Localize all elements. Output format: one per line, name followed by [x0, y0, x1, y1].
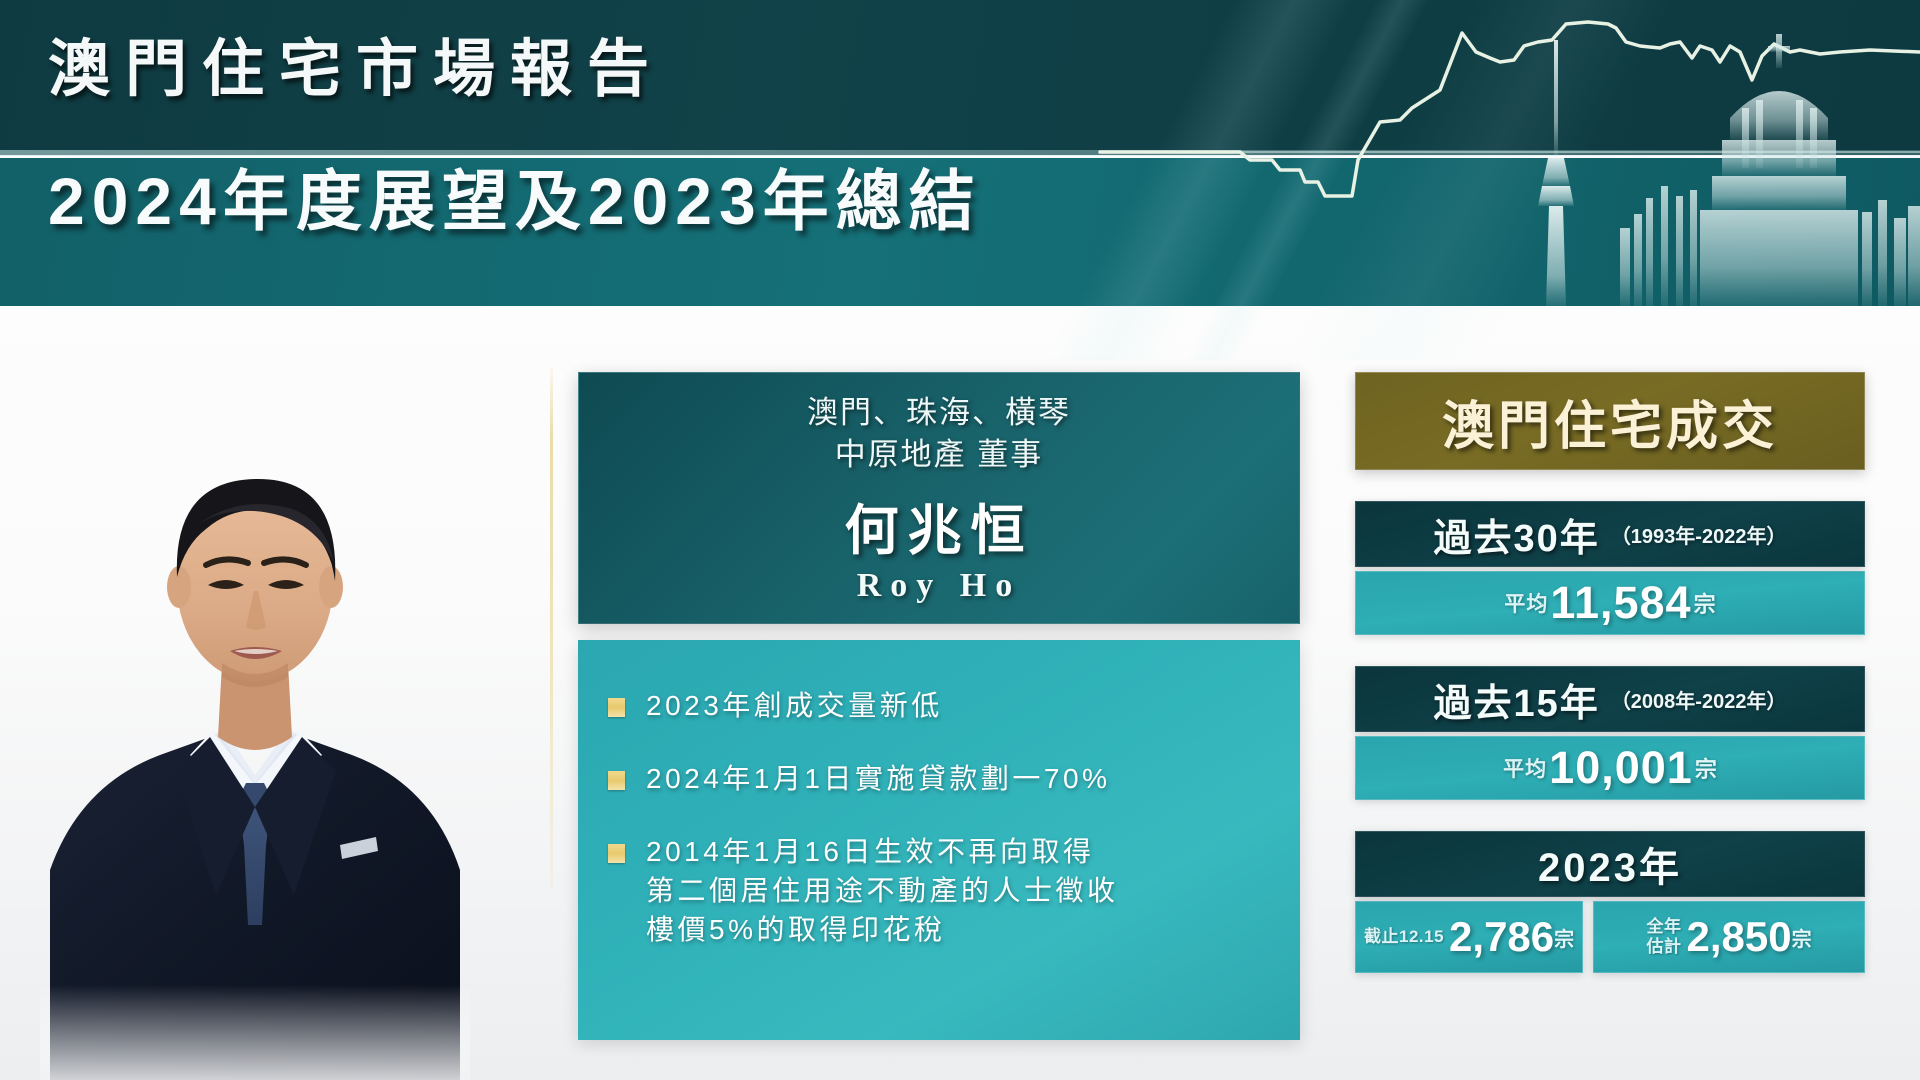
stat-header-range: （2008年-2022年） [1611, 685, 1787, 714]
slide-root: 澳門住宅市場報告 2024年度展望及2023年總結 [0, 0, 1920, 1080]
speaker-name-zh: 何兆恒 [845, 486, 1034, 565]
stat-box-label-line2: 估計 [1647, 937, 1682, 957]
list-item: 2023年創成交量新低 [608, 686, 1270, 725]
stat-header-label: 2023年 [1538, 835, 1682, 893]
stat-header-label: 過去15年 [1434, 672, 1600, 727]
stat-header: 過去30年 （1993年-2022年） [1355, 501, 1865, 567]
stats-panel-title-text: 澳門住宅成交 [1442, 384, 1778, 459]
stat-box-number: 2,786 [1449, 913, 1554, 961]
stat-value-number: 10,001 [1549, 742, 1693, 794]
stat-header: 2023年 [1355, 831, 1865, 897]
page-subtitle: 2024年度展望及2023年總結 [48, 148, 982, 244]
transactions-stats-panel: 澳門住宅成交 過去30年 （1993年-2022年） 平均 11,584 宗 過… [1355, 372, 1865, 1042]
speaker-org: 澳門、珠海、橫琴 中原地產 董事 [807, 392, 1071, 476]
stat-value-unit: 宗 [1695, 752, 1717, 784]
stat-header: 過去15年 （2008年-2022年） [1355, 666, 1865, 732]
stat-value-prefix: 平均 [1504, 588, 1548, 618]
stats-panel-title: 澳門住宅成交 [1355, 372, 1865, 470]
stat-value-number: 11,584 [1550, 577, 1691, 629]
stat-value-prefix: 平均 [1503, 753, 1547, 783]
stat-box-label-line1: 全年 [1647, 917, 1682, 937]
stat-header-label: 過去30年 [1434, 507, 1600, 562]
list-item-text: 2014年1月16日生效不再向取得 第二個居住用途不動產的人士徵收 樓價5%的取… [646, 832, 1119, 949]
list-item-line: 樓價5%的取得印花稅 [646, 910, 1119, 949]
list-item-line: 2014年1月16日生效不再向取得 [646, 832, 1119, 871]
stat-group-2023: 2023年 截止12.15 2,786 宗 全年 估計 2,850 宗 [1355, 831, 1865, 973]
speaker-org-line1: 澳門、珠海、橫琴 [807, 392, 1071, 434]
key-points-card: 2023年創成交量新低 2024年1月1日實施貸款劃一70% 2014年1月16… [578, 640, 1300, 1040]
list-item-line: 第二個居住用途不動產的人士徵收 [646, 871, 1119, 910]
stat-group-30y: 過去30年 （1993年-2022年） 平均 11,584 宗 [1355, 501, 1865, 635]
stat-box-unit: 宗 [1554, 923, 1574, 952]
stat-box-unit: 宗 [1792, 923, 1812, 952]
stat-box-label-line1: 截止12.15 [1364, 927, 1444, 947]
list-item: 2014年1月16日生效不再向取得 第二個居住用途不動產的人士徵收 樓價5%的取… [608, 832, 1270, 949]
list-item-line: 2023年創成交量新低 [646, 686, 943, 725]
stat-box-label: 全年 估計 [1647, 917, 1682, 957]
stat-value-unit: 宗 [1694, 587, 1716, 619]
speaker-name-card: 澳門、珠海、橫琴 中原地產 董事 何兆恒 Roy Ho [578, 372, 1300, 624]
stat-value-row: 平均 10,001 宗 [1355, 736, 1865, 800]
speaker-portrait [40, 285, 470, 1080]
stat-box-number: 2,850 [1687, 913, 1792, 961]
stat-group-15y: 過去15年 （2008年-2022年） 平均 10,001 宗 [1355, 666, 1865, 800]
list-item-text: 2024年1月1日實施貸款劃一70% [646, 759, 1110, 798]
stat-header-range: （1993年-2022年） [1611, 520, 1787, 549]
stat-value-row: 平均 11,584 宗 [1355, 571, 1865, 635]
gold-vertical-divider [550, 368, 553, 888]
portrait-illustration [40, 285, 470, 1080]
stat-split-row: 截止12.15 2,786 宗 全年 估計 2,850 宗 [1355, 901, 1865, 973]
speaker-org-line2: 中原地產 董事 [807, 434, 1071, 476]
stat-box-label: 截止12.15 [1364, 927, 1444, 947]
square-bullet-icon [608, 844, 625, 863]
speaker-name-en: Roy Ho [857, 567, 1022, 605]
square-bullet-icon [608, 771, 625, 790]
list-item-text: 2023年創成交量新低 [646, 686, 943, 725]
square-bullet-icon [608, 698, 625, 717]
stat-box-fullyear-estimate: 全年 估計 2,850 宗 [1593, 901, 1865, 973]
page-title: 澳門住宅市場報告 [48, 18, 664, 108]
list-item-line: 2024年1月1日實施貸款劃一70% [646, 759, 1110, 798]
list-item: 2024年1月1日實施貸款劃一70% [608, 759, 1270, 798]
stat-box-ytd: 截止12.15 2,786 宗 [1355, 901, 1583, 973]
